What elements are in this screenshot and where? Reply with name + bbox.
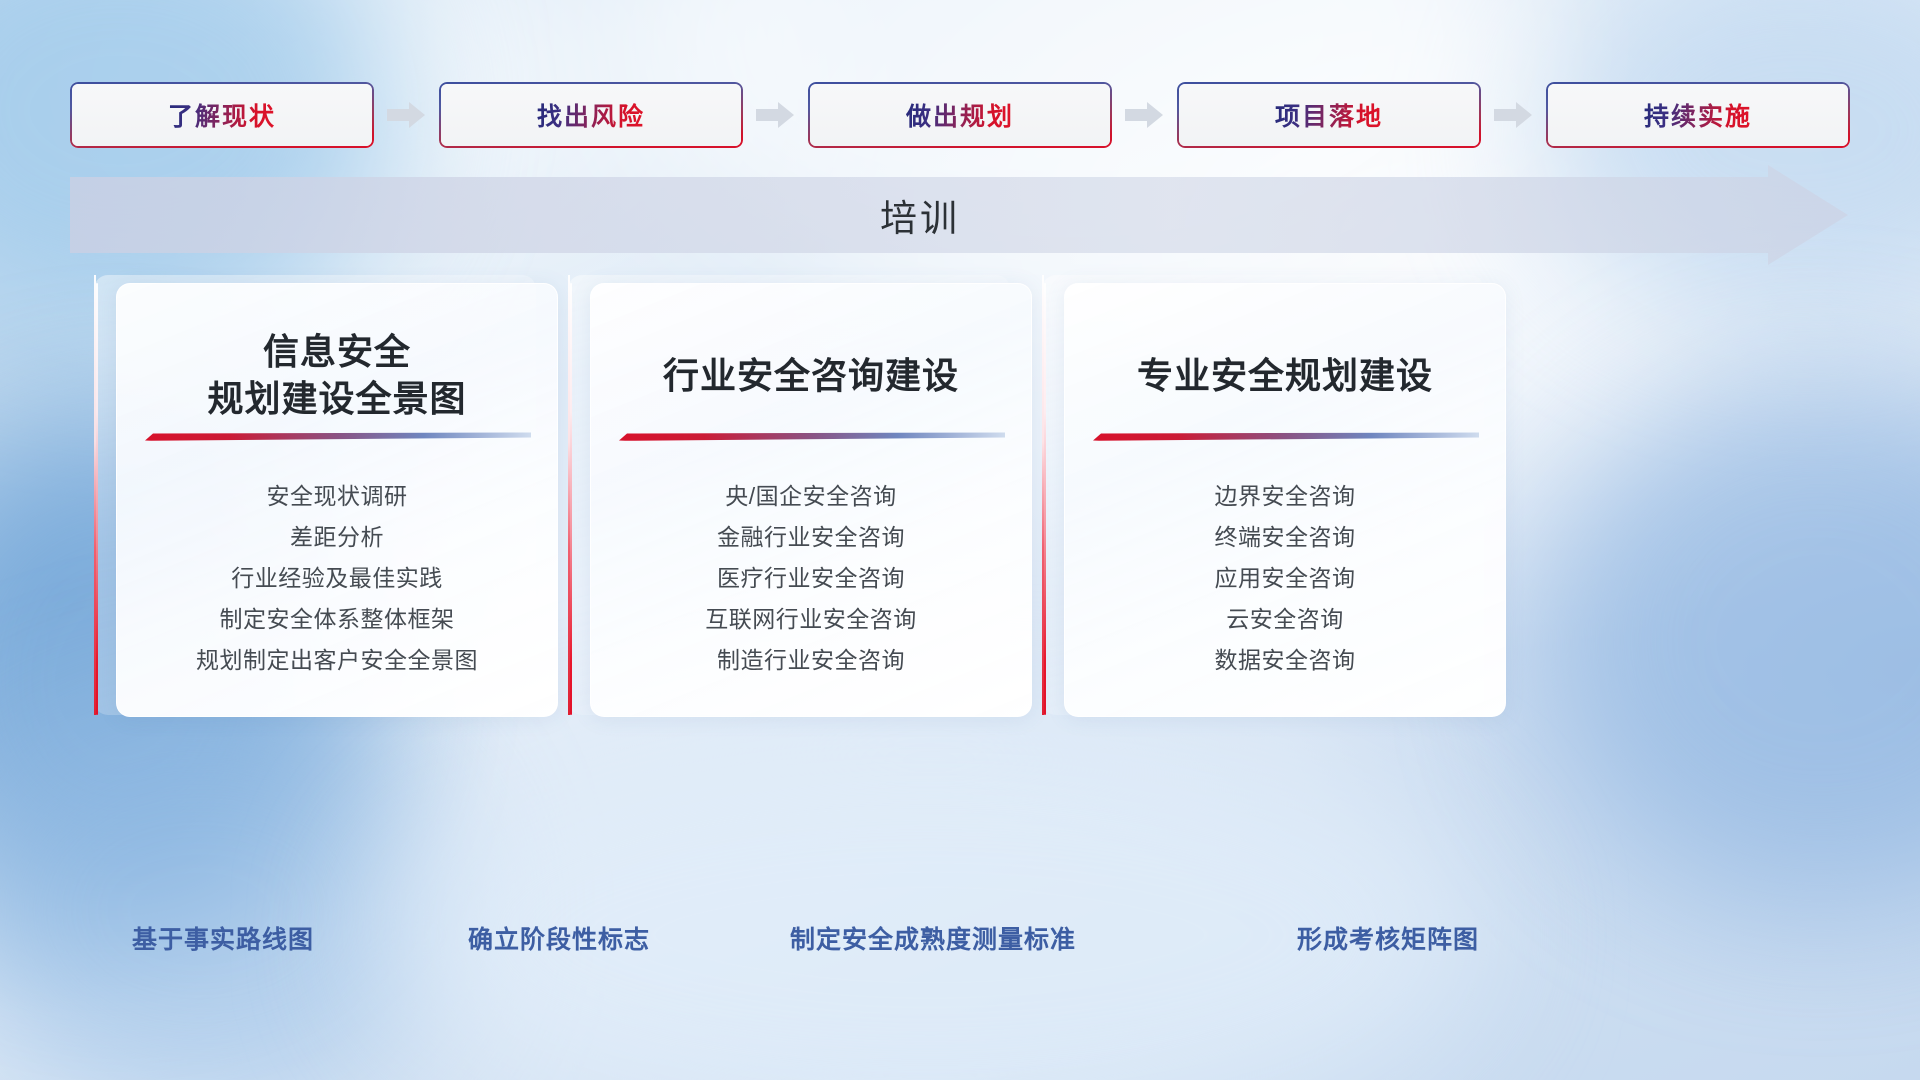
process-step-4-label: 项目落地 — [1275, 97, 1383, 133]
list-item: 制造行业安全咨询 — [591, 640, 1031, 681]
card-1[interactable]: 信息安全 规划建设全景图 — [94, 275, 558, 715]
list-item: 行业经验及最佳实践 — [117, 558, 557, 599]
card-3-title: 专业安全规划建设 — [1065, 284, 1505, 399]
bottom-label-2: 确立阶段性标志 — [468, 920, 650, 956]
card-2-accent-edge — [570, 283, 572, 715]
process-step-3-label: 做出规划 — [906, 97, 1014, 133]
slide-canvas: 了解现状 找出风险 做出规划 项目落地 — [0, 0, 1920, 1080]
training-banner-label: 培训 — [70, 165, 1770, 265]
process-step-1-body: 了解现状 — [72, 84, 372, 146]
bottom-label-1: 基于事实路线图 — [132, 920, 314, 956]
process-step-4[interactable]: 项目落地 — [1177, 82, 1481, 148]
list-item: 应用安全咨询 — [1065, 558, 1505, 599]
step-arrow-icon-2 — [756, 100, 796, 130]
card-1-accent-edge — [96, 283, 98, 715]
list-item: 规划制定出客户安全全景图 — [117, 640, 557, 681]
card-1-item-list: 安全现状调研 差距分析 行业经验及最佳实践 制定安全体系整体框架 规划制定出客户… — [117, 476, 557, 681]
bottom-caption-row: 基于事实路线图 确立阶段性标志 制定安全成熟度测量标准 形成考核矩阵图 — [0, 920, 1920, 966]
background-glow — [1540, 0, 1920, 320]
list-item: 互联网行业安全咨询 — [591, 599, 1031, 640]
card-3-accent-edge — [1044, 283, 1046, 715]
bottom-label-4: 形成考核矩阵图 — [1297, 920, 1479, 956]
card-2[interactable]: 行业安全咨询建设 — [568, 275, 1032, 715]
process-step-3-body: 做出规划 — [810, 84, 1110, 146]
card-2-item-list: 央/国企安全咨询 金融行业安全咨询 医疗行业安全咨询 互联网行业安全咨询 制造行… — [591, 476, 1031, 681]
training-banner: 培训 — [70, 165, 1848, 265]
list-item: 数据安全咨询 — [1065, 640, 1505, 681]
card-1-panel: 信息安全 规划建设全景图 — [116, 283, 558, 717]
card-1-divider — [145, 432, 531, 441]
process-step-1[interactable]: 了解现状 — [70, 82, 374, 148]
card-row: 信息安全 规划建设全景图 — [94, 275, 1834, 715]
list-item: 边界安全咨询 — [1065, 476, 1505, 517]
background-glow — [380, 720, 1480, 1080]
process-step-5-label: 持续实施 — [1644, 97, 1752, 133]
process-step-3[interactable]: 做出规划 — [808, 82, 1112, 148]
card-2-divider — [619, 432, 1005, 441]
card-3[interactable]: 专业安全规划建设 — [1042, 275, 1506, 715]
card-3-divider — [1093, 432, 1479, 441]
step-arrow-icon-1 — [387, 100, 427, 130]
list-item: 金融行业安全咨询 — [591, 517, 1031, 558]
list-item: 终端安全咨询 — [1065, 517, 1505, 558]
process-step-2-label: 找出风险 — [537, 97, 645, 133]
process-step-strip: 了解现状 找出风险 做出规划 项目落地 — [70, 80, 1850, 150]
card-3-item-list: 边界安全咨询 终端安全咨询 应用安全咨询 云安全咨询 数据安全咨询 — [1065, 476, 1505, 681]
step-arrow-icon-4 — [1494, 100, 1534, 130]
card-2-title: 行业安全咨询建设 — [591, 284, 1031, 399]
process-step-2-body: 找出风险 — [441, 84, 741, 146]
step-arrow-icon-3 — [1125, 100, 1165, 130]
process-step-5[interactable]: 持续实施 — [1546, 82, 1850, 148]
card-2-panel: 行业安全咨询建设 — [590, 283, 1032, 717]
list-item: 制定安全体系整体框架 — [117, 599, 557, 640]
process-step-5-body: 持续实施 — [1548, 84, 1848, 146]
process-step-4-body: 项目落地 — [1179, 84, 1479, 146]
list-item: 安全现状调研 — [117, 476, 557, 517]
process-step-1-label: 了解现状 — [168, 97, 276, 133]
list-item: 云安全咨询 — [1065, 599, 1505, 640]
bottom-label-3: 制定安全成熟度测量标准 — [790, 920, 1076, 956]
list-item: 医疗行业安全咨询 — [591, 558, 1031, 599]
card-1-title: 信息安全 规划建设全景图 — [117, 284, 557, 422]
list-item: 差距分析 — [117, 517, 557, 558]
list-item: 央/国企安全咨询 — [591, 476, 1031, 517]
card-3-panel: 专业安全规划建设 — [1064, 283, 1506, 717]
process-step-2[interactable]: 找出风险 — [439, 82, 743, 148]
background-glow — [0, 700, 460, 1080]
